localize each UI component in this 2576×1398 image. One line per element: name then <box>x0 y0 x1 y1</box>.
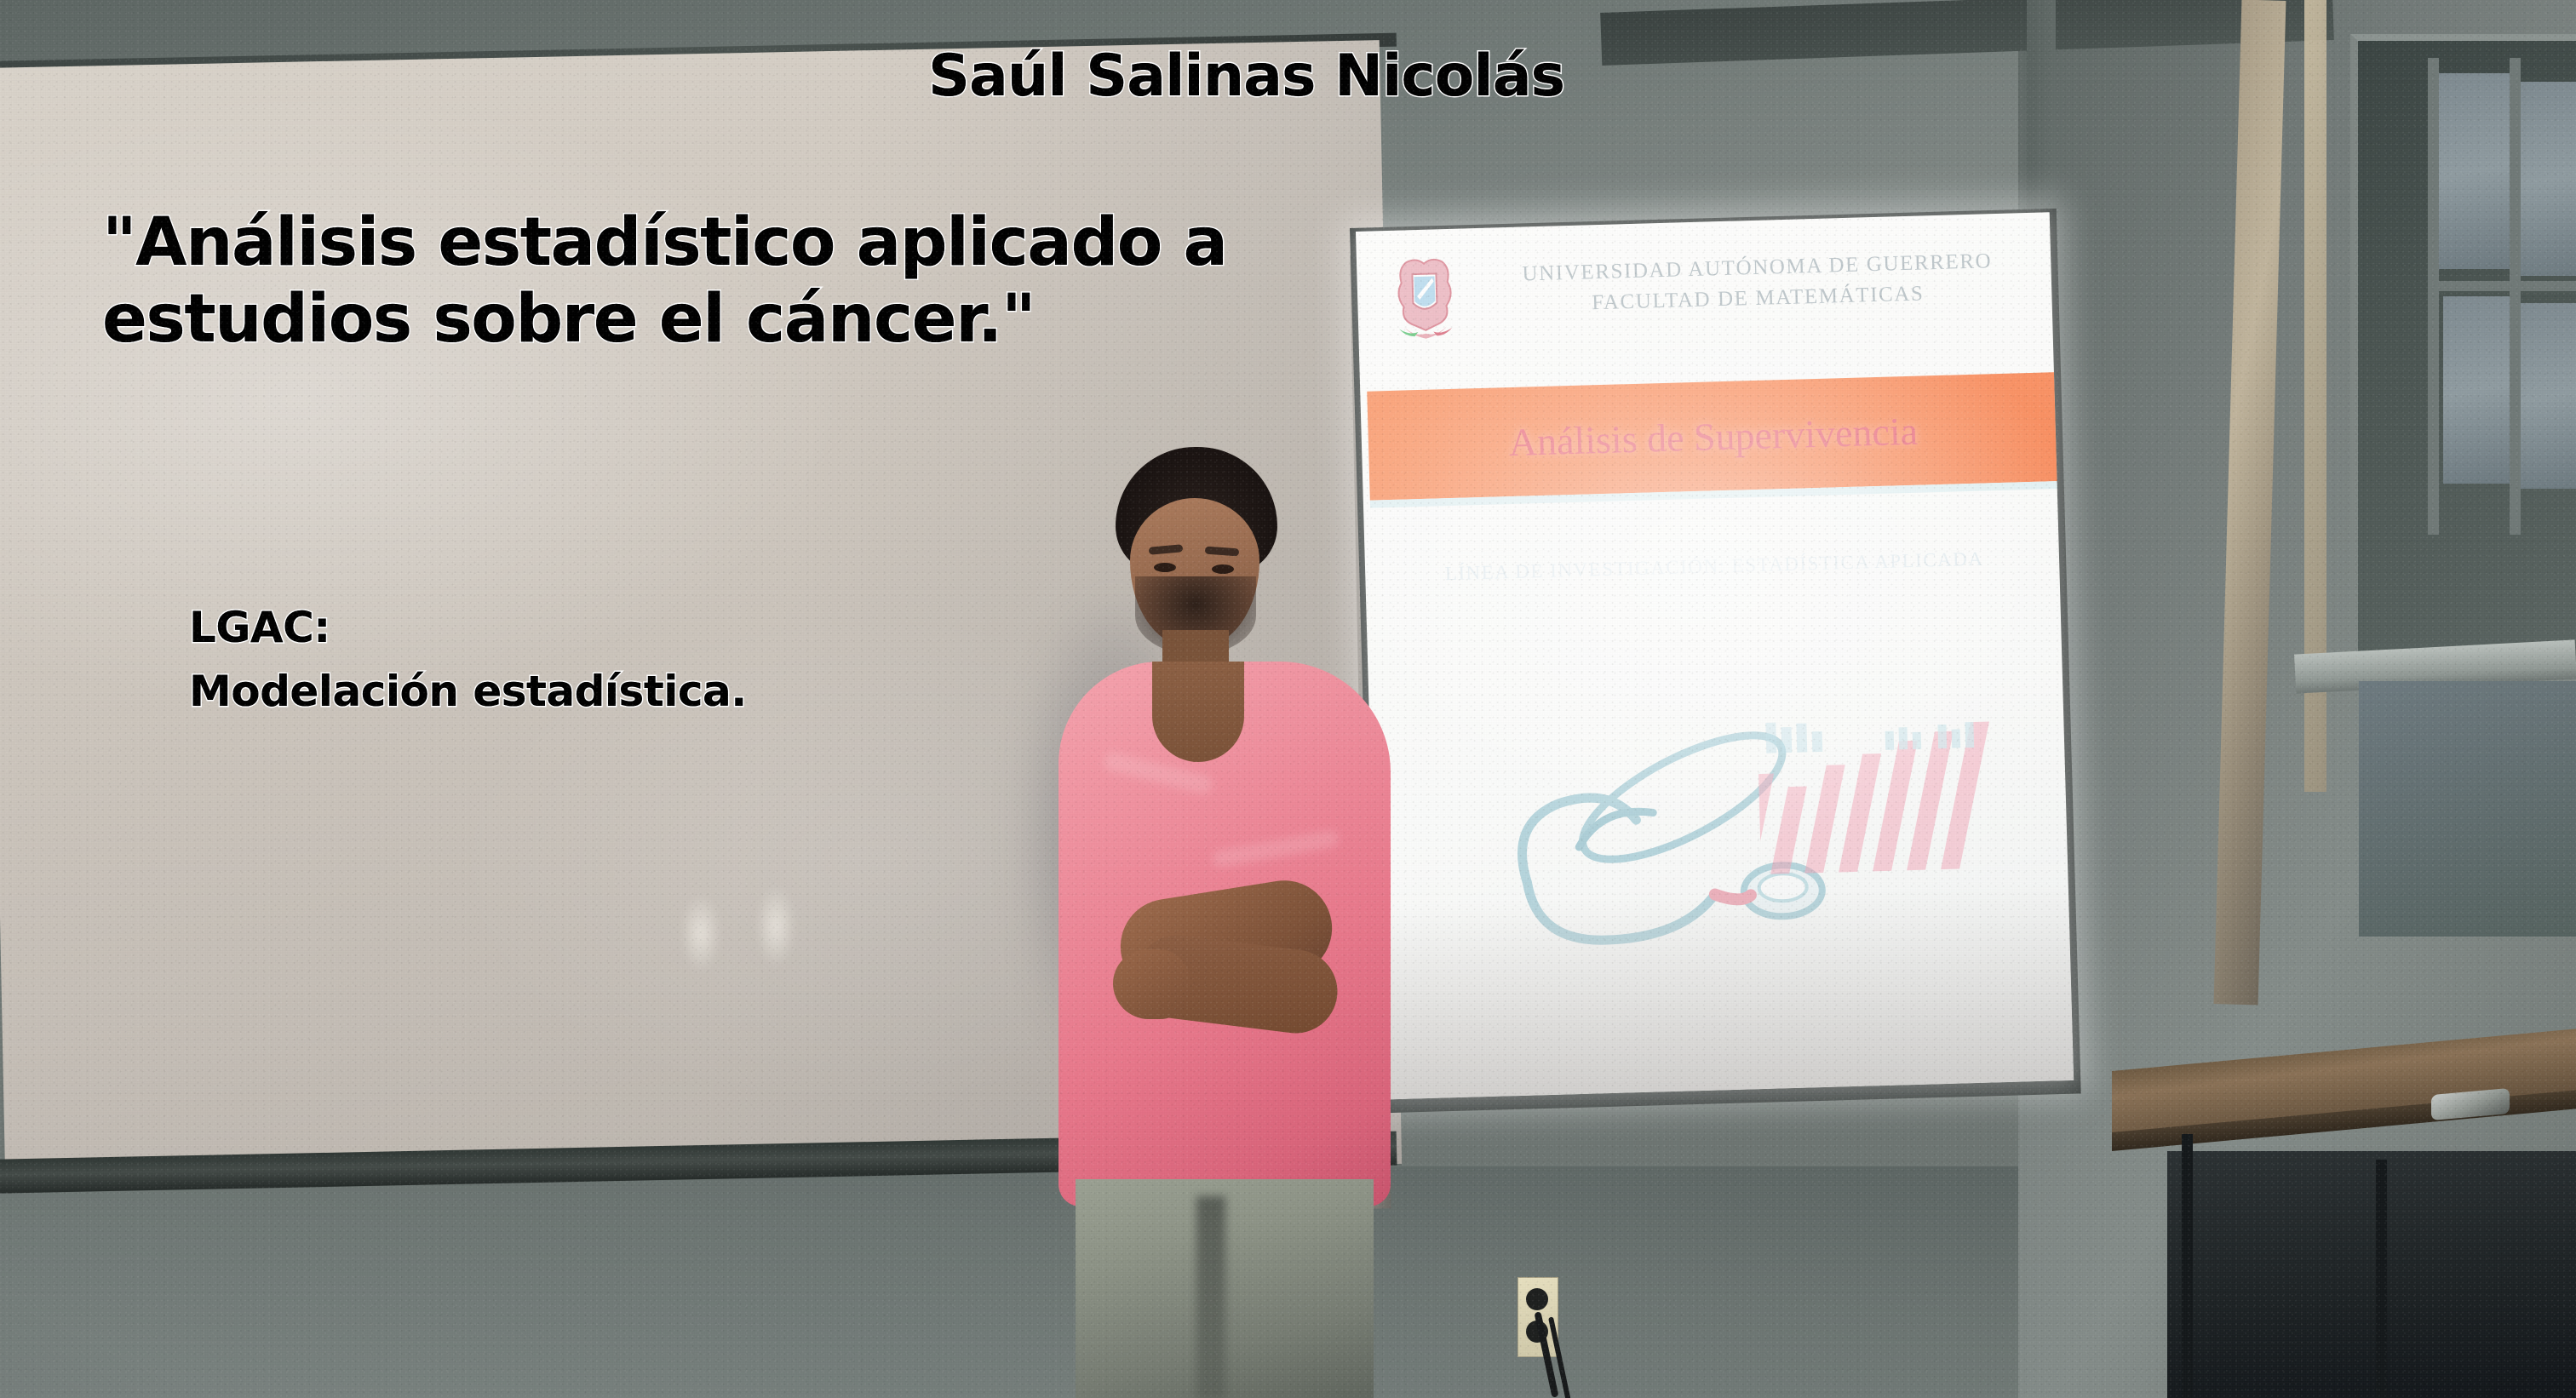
window-pane <box>2439 73 2512 269</box>
window-mullion <box>2428 58 2439 535</box>
window-pane <box>2520 82 2576 276</box>
slide-banner-title: Análisis de Supervivencia <box>1367 372 2059 501</box>
overlay-main-quote: "Análisis estadístico aplicado a estudio… <box>102 204 1227 358</box>
window-pane <box>2520 303 2576 489</box>
overlay-title: Saúl Salinas Nicolás <box>928 43 1564 110</box>
photo-scene: UNIVERSIDAD AUTÓNOMA DE GUERRERO FACULTA… <box>0 0 2576 1398</box>
whiteboard-smudge <box>756 885 795 967</box>
university-crest <box>1391 253 1460 343</box>
eye <box>1154 563 1176 572</box>
slide-bottom-wash <box>1374 885 2074 1100</box>
presenter-shirt-vneck <box>1152 662 1244 762</box>
window-pane <box>2443 296 2513 484</box>
shirt-fold <box>1211 829 1340 868</box>
projected-slide: UNIVERSIDAD AUTÓNOMA DE GUERRERO FACULTA… <box>1356 212 2074 1099</box>
power-plug <box>1526 1288 1548 1310</box>
desk-leg <box>2182 1134 2193 1398</box>
pink-bar-chart-graphic <box>1757 715 2042 885</box>
overlay-lgac: LGAC: Modelación estadística. <box>189 596 747 724</box>
slide-research-line: LÍNEA DE INVESTIGACIÓN: ESTADÍSTICA APLI… <box>1391 547 2038 587</box>
pants-seam <box>1196 1196 1225 1398</box>
presenter-person <box>1035 447 1443 1398</box>
window-lower-section <box>2359 681 2576 937</box>
whiteboard-smudge <box>681 894 720 972</box>
eye <box>1212 564 1234 574</box>
window-mullion <box>2435 281 2576 291</box>
eyebrow <box>1149 544 1184 554</box>
lower-wall <box>0 1166 2061 1398</box>
desk-shadow-area <box>2167 1151 2576 1398</box>
window-mullion <box>2510 58 2521 535</box>
presenter-hand <box>1113 949 1190 1019</box>
classroom-window <box>2350 34 2576 671</box>
slide-institution-text: UNIVERSIDAD AUTÓNOMA DE GUERRERO FACULTA… <box>1484 245 2031 322</box>
desk-leg <box>2376 1160 2387 1398</box>
eyebrow <box>1205 547 1240 557</box>
